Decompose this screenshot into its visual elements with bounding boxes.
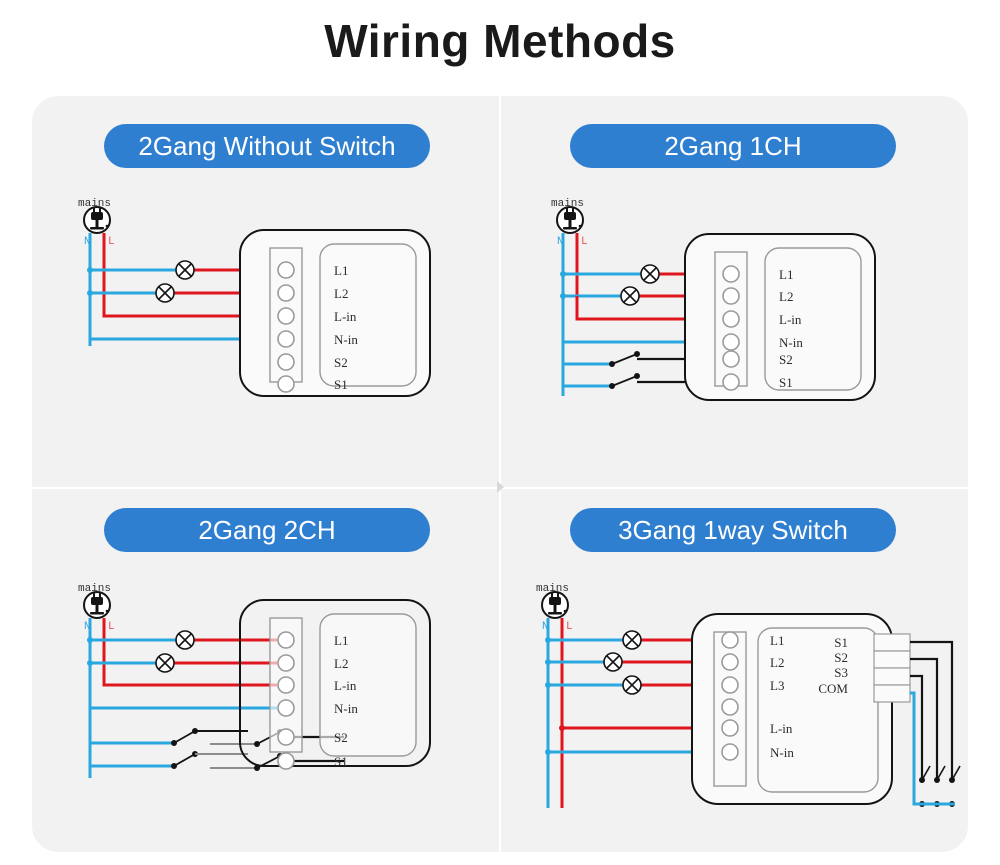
lamp-cross-icon bbox=[176, 631, 194, 649]
terminal-s1[interactable] bbox=[723, 374, 739, 390]
terminal-label: L2 bbox=[334, 656, 348, 671]
device-inner-panel bbox=[758, 628, 878, 792]
panel-2gang-without-switch: 2Gang Without Switch mains N L bbox=[32, 96, 500, 488]
terminal-s2[interactable] bbox=[278, 354, 294, 370]
terminal-label: S1 bbox=[334, 754, 348, 769]
mains-plug-icon bbox=[84, 207, 110, 233]
mains-plug-icon bbox=[542, 592, 568, 618]
wiring-diagram-3: mains N L bbox=[32, 488, 500, 852]
wiring-diagram-1: mains N L L1 L2 bbox=[32, 96, 500, 488]
terminal-label: N-in bbox=[779, 335, 803, 350]
mains-label: mains bbox=[536, 583, 569, 595]
page-title: Wiring Methods bbox=[0, 14, 1000, 68]
terminal-label: S2 bbox=[334, 355, 348, 370]
terminal-label: S1 bbox=[779, 375, 793, 390]
terminal-label: S2 bbox=[334, 730, 348, 745]
terminal-n-in[interactable] bbox=[278, 331, 294, 347]
signal-terminal-label: S2 bbox=[834, 650, 848, 665]
panel-2gang-1ch: 2Gang 1CH mains N L bbox=[500, 96, 968, 488]
terminal-label: L2 bbox=[770, 655, 784, 670]
terminal-label: L-in bbox=[770, 721, 793, 736]
signal-terminal-block bbox=[874, 634, 910, 702]
live-label: L bbox=[108, 621, 115, 633]
wiring-diagram-4: mains N L L1 bbox=[500, 488, 968, 852]
terminal-l-in[interactable] bbox=[723, 311, 739, 327]
mains-label: mains bbox=[551, 198, 584, 210]
panel-3gang-1way-switch: 3Gang 1way Switch mains N L bbox=[500, 488, 968, 852]
mains-label: mains bbox=[78, 583, 111, 595]
lamp-cross-icon bbox=[621, 287, 639, 305]
terminal-n-in[interactable] bbox=[722, 744, 738, 760]
terminal-label: L-in bbox=[334, 678, 357, 693]
terminal-label: S2 bbox=[779, 352, 793, 367]
terminal-l3[interactable] bbox=[722, 677, 738, 693]
mains-plug-icon bbox=[557, 207, 583, 233]
terminal-s2[interactable] bbox=[278, 729, 294, 745]
terminal-n-in[interactable] bbox=[723, 334, 739, 350]
terminal-l-in[interactable] bbox=[278, 308, 294, 324]
lamp-cross-icon bbox=[623, 631, 641, 649]
terminal-s2[interactable] bbox=[723, 351, 739, 367]
terminal-l2[interactable] bbox=[722, 654, 738, 670]
wiring-diagram-2: mains N L bbox=[500, 96, 968, 488]
terminal-l-in[interactable] bbox=[722, 720, 738, 736]
terminal-label: L1 bbox=[334, 633, 348, 648]
terminal-l2[interactable] bbox=[278, 655, 294, 671]
signal-terminal-label: S3 bbox=[834, 665, 848, 680]
terminal-s1[interactable] bbox=[278, 376, 294, 392]
terminal-label: L3 bbox=[770, 678, 784, 693]
terminal-l2[interactable] bbox=[723, 288, 739, 304]
terminal-l1[interactable] bbox=[722, 632, 738, 648]
terminal-l1[interactable] bbox=[723, 266, 739, 282]
mains-plug-icon bbox=[84, 592, 110, 618]
terminal-label: L2 bbox=[779, 289, 793, 304]
terminal-label: N-in bbox=[334, 332, 358, 347]
terminal-label: N-in bbox=[334, 701, 358, 716]
terminal-l2[interactable] bbox=[278, 285, 294, 301]
terminal-s1[interactable] bbox=[278, 753, 294, 769]
signal-terminal-label: COM bbox=[818, 681, 848, 696]
terminal-label: L1 bbox=[770, 633, 784, 648]
terminal-label: L1 bbox=[334, 263, 348, 278]
live-label: L bbox=[581, 236, 588, 248]
lamp-cross-icon bbox=[156, 654, 174, 672]
live-label: L bbox=[566, 621, 573, 633]
lamp-cross-icon bbox=[623, 676, 641, 694]
terminal-n-in[interactable] bbox=[278, 700, 294, 716]
terminal-l-in[interactable] bbox=[278, 677, 294, 693]
terminal-label: L1 bbox=[779, 267, 793, 282]
terminal-unused[interactable] bbox=[722, 699, 738, 715]
panel-2gang-2ch: 2Gang 2CH mains N L bbox=[32, 488, 500, 852]
lamp-cross-icon bbox=[176, 261, 194, 279]
switch-s1[interactable] bbox=[910, 642, 960, 807]
terminal-label: L2 bbox=[334, 286, 348, 301]
signal-terminal-label: S1 bbox=[834, 635, 848, 650]
terminal-label: S1 bbox=[334, 377, 348, 392]
lamp-cross-icon bbox=[604, 653, 622, 671]
live-label: L bbox=[108, 236, 115, 248]
terminal-l1[interactable] bbox=[278, 262, 294, 278]
terminal-label: L-in bbox=[334, 309, 357, 324]
lamp-cross-icon bbox=[156, 284, 174, 302]
lamp-cross-icon bbox=[641, 265, 659, 283]
terminal-label: L-in bbox=[779, 312, 802, 327]
com-wire bbox=[910, 693, 955, 804]
mains-label: mains bbox=[78, 198, 111, 210]
terminal-label: N-in bbox=[770, 745, 794, 760]
terminal-l1[interactable] bbox=[278, 632, 294, 648]
